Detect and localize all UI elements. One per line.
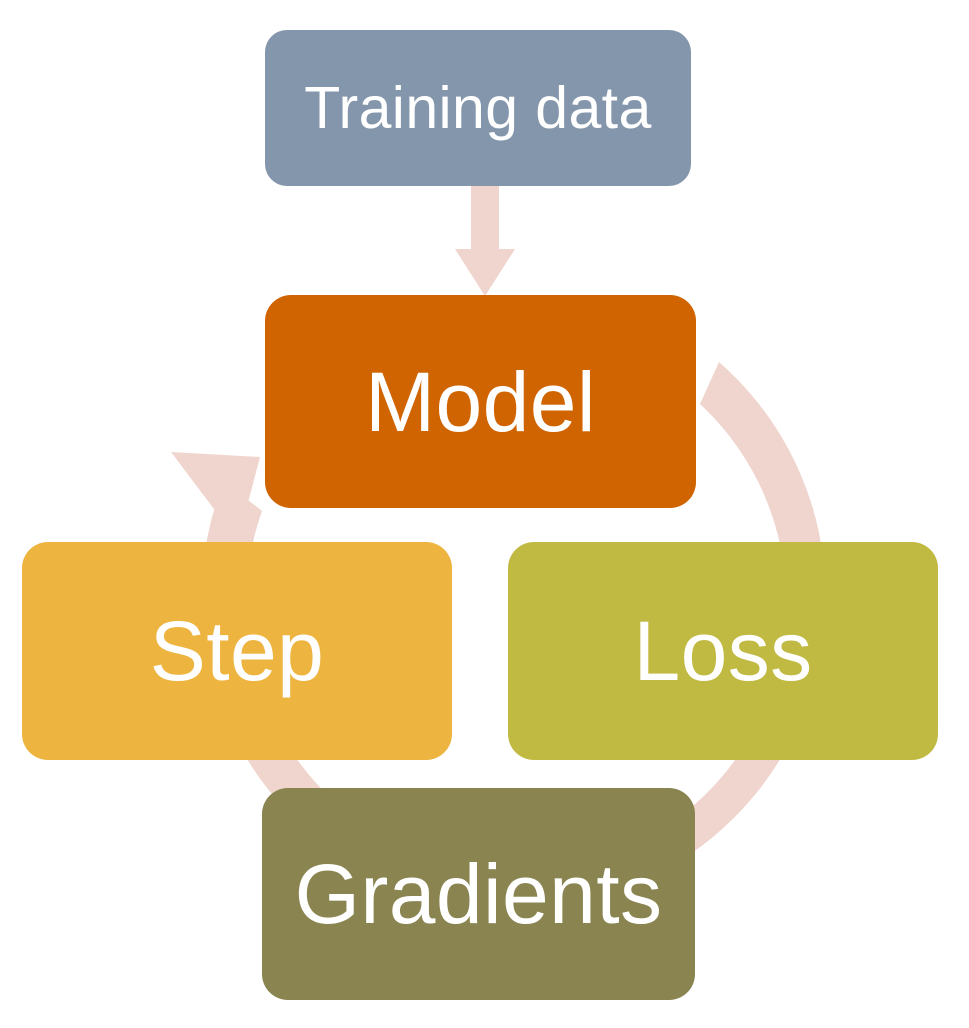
node-training-data[interactable]: Training data [265, 30, 691, 186]
node-loss[interactable]: Loss [508, 542, 938, 760]
feed-arrow [455, 186, 515, 296]
node-loss-label: Loss [633, 609, 812, 693]
node-step[interactable]: Step [22, 542, 452, 760]
node-training-data-label: Training data [304, 79, 651, 138]
feed-arrowhead [455, 249, 515, 296]
diagram-canvas: Training data Model Loss Gradients Step [0, 0, 969, 1028]
feed-arrow-shaft [471, 186, 499, 249]
node-gradients-label: Gradients [295, 852, 663, 936]
node-step-label: Step [150, 609, 324, 693]
node-model[interactable]: Model [265, 295, 696, 508]
node-model-label: Model [365, 360, 596, 444]
node-gradients[interactable]: Gradients [262, 788, 695, 1000]
